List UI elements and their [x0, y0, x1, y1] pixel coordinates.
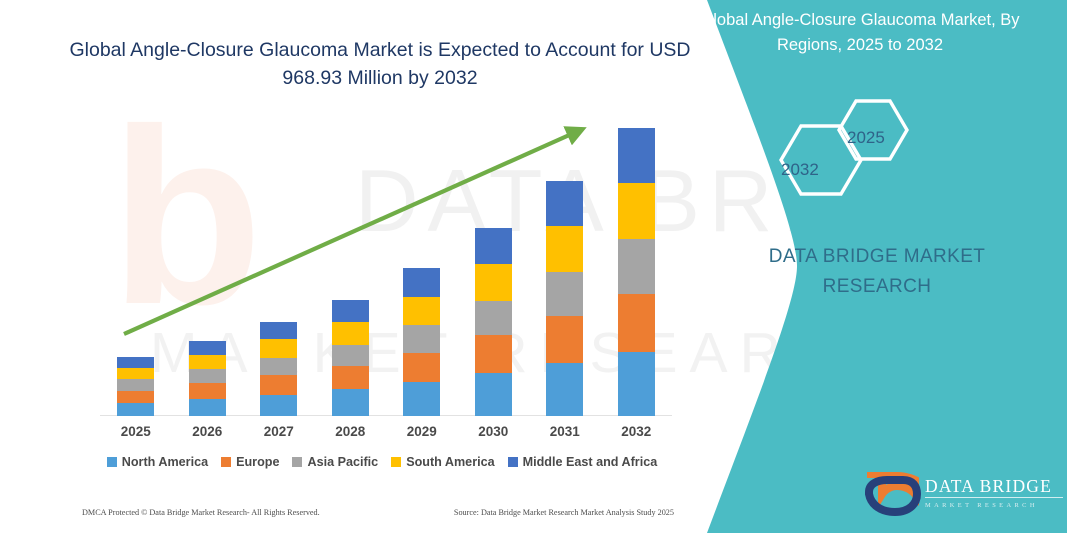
legend-item[interactable]: South America — [391, 455, 494, 469]
bar-segment — [260, 375, 297, 394]
company-logo-divider — [925, 497, 1063, 498]
legend-swatch-icon — [391, 457, 401, 467]
legend-label: South America — [406, 455, 494, 469]
legend-label: North America — [122, 455, 208, 469]
bar-segment — [117, 379, 154, 390]
legend-item[interactable]: Europe — [221, 455, 279, 469]
infographic-canvas: b DATA BRIDGE MARKET RESEARCH Global Ang… — [0, 0, 1067, 533]
legend-item[interactable]: Middle East and Africa — [508, 455, 658, 469]
bar-segment — [332, 366, 369, 389]
growth-arrow-icon — [100, 110, 672, 360]
bar-segment — [403, 382, 440, 416]
company-logo-text: DATA BRIDGE MARKET RESEARCH — [925, 476, 1063, 511]
legend-swatch-icon — [221, 457, 231, 467]
bar-segment — [189, 383, 226, 398]
chart-legend: North AmericaEuropeAsia PacificSouth Ame… — [72, 455, 692, 469]
x-axis-tick-label: 2027 — [243, 424, 314, 439]
hexagon-label-2032: 2032 — [781, 160, 819, 180]
company-logo-title: DATA BRIDGE — [925, 476, 1063, 496]
bar-segment — [117, 391, 154, 403]
bar-segment — [475, 373, 512, 416]
legend-item[interactable]: North America — [107, 455, 208, 469]
legend-label: Asia Pacific — [307, 455, 378, 469]
legend-swatch-icon — [107, 457, 117, 467]
x-axis-tick-label: 2030 — [458, 424, 529, 439]
hexagon-group — [767, 88, 997, 218]
legend-swatch-icon — [508, 457, 518, 467]
brand-panel: Global Angle-Closure Glaucoma Market, By… — [667, 0, 1067, 533]
chart-panel: Global Angle-Closure Glaucoma Market is … — [0, 0, 760, 533]
legend-label: Middle East and Africa — [523, 455, 658, 469]
company-logo-subtitle: MARKET RESEARCH — [925, 500, 1063, 511]
bar-segment — [117, 368, 154, 379]
x-axis-tick-label: 2032 — [601, 424, 672, 439]
bar-segment — [117, 403, 154, 416]
brand-name-line2: RESEARCH — [727, 272, 1027, 302]
bar-segment — [260, 395, 297, 416]
legend-label: Europe — [236, 455, 279, 469]
x-axis-tick-label: 2031 — [529, 424, 600, 439]
footer-copyright: DMCA Protected © Data Bridge Market Rese… — [82, 508, 320, 517]
x-axis-tick-label: 2028 — [315, 424, 386, 439]
hexagon-shapes — [767, 88, 997, 218]
brand-panel-title: Global Angle-Closure Glaucoma Market, By… — [695, 8, 1025, 58]
footer: DMCA Protected © Data Bridge Market Rese… — [82, 508, 682, 517]
x-axis-tick-label: 2025 — [100, 424, 171, 439]
hexagon-label-2025: 2025 — [847, 128, 885, 148]
stacked-bar — [117, 357, 154, 416]
company-logo: DATA BRIDGE MARKET RESEARCH — [865, 472, 1055, 522]
bar-segment — [260, 358, 297, 375]
brand-name: DATA BRIDGE MARKET RESEARCH — [727, 242, 1027, 302]
x-axis-tick-label: 2026 — [172, 424, 243, 439]
x-axis-labels: 20252026202720282029203020312032 — [100, 424, 672, 439]
legend-swatch-icon — [292, 457, 302, 467]
x-axis-tick-label: 2029 — [386, 424, 457, 439]
brand-name-line1: DATA BRIDGE MARKET — [727, 242, 1027, 272]
legend-item[interactable]: Asia Pacific — [292, 455, 378, 469]
bar-segment — [332, 389, 369, 416]
company-logo-mark-icon — [865, 472, 921, 518]
bar-segment — [189, 369, 226, 383]
page-title: Global Angle-Closure Glaucoma Market is … — [60, 36, 700, 92]
bar-segment — [546, 363, 583, 416]
footer-source: Source: Data Bridge Market Research Mark… — [454, 508, 682, 517]
brand-panel-content: Global Angle-Closure Glaucoma Market, By… — [667, 0, 1067, 533]
bar-segment — [618, 352, 655, 416]
bar-segment — [189, 399, 226, 416]
